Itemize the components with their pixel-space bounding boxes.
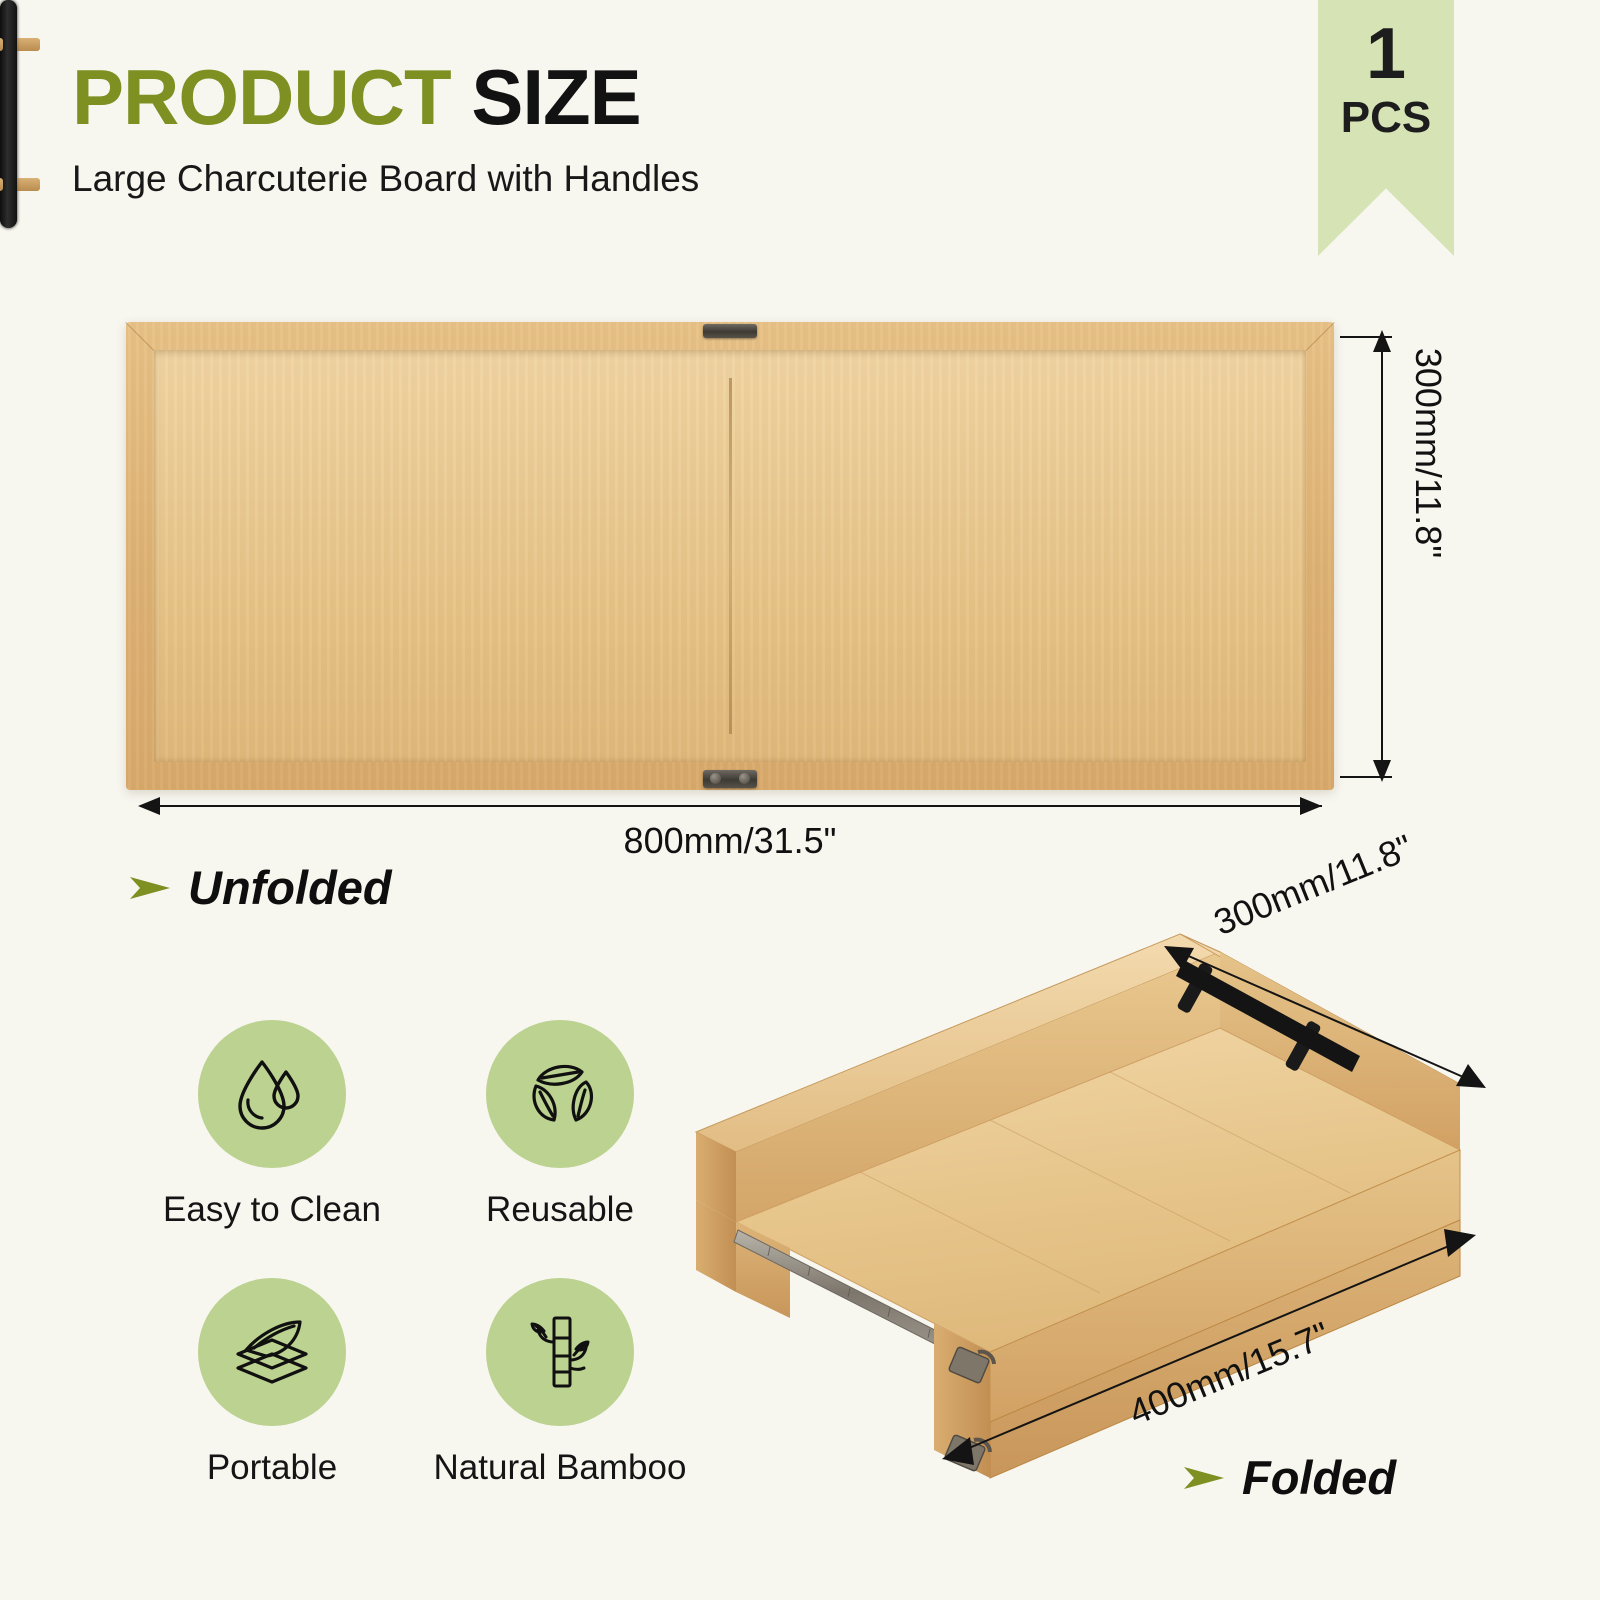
feature-label: Easy to Clean	[163, 1190, 381, 1230]
dimension-line-height	[1381, 336, 1383, 776]
feature-label: Reusable	[486, 1190, 634, 1230]
arrow-up-icon	[1373, 330, 1391, 352]
fold-seam-line	[729, 378, 732, 734]
feature-icon-circle	[486, 1020, 634, 1168]
handle-bar	[0, 0, 17, 228]
arrow-right-icon	[1300, 797, 1322, 815]
unfolded-tray-image	[126, 322, 1334, 790]
layers-leaf-icon	[224, 1304, 320, 1400]
ribbon-unit: PCS	[1341, 94, 1431, 142]
feature-icon-circle	[198, 1020, 346, 1168]
page-title: PRODUCT SIZE	[72, 58, 699, 136]
feature-label: Natural Bamboo	[434, 1448, 687, 1488]
water-drop-icon	[224, 1046, 320, 1142]
handle-post	[0, 178, 3, 191]
arrow-marker-icon	[128, 873, 172, 903]
infographic-canvas: PRODUCT SIZE Large Charcuterie Board wit…	[0, 0, 1600, 1600]
state-label-unfolded: Unfolded	[128, 860, 392, 915]
arrow-down-icon	[1373, 760, 1391, 782]
page-subtitle: Large Charcuterie Board with Handles	[72, 158, 699, 200]
handle-post	[14, 38, 40, 51]
state-label-unfolded-text: Unfolded	[188, 860, 392, 915]
ribbon-quantity: 1	[1366, 18, 1406, 90]
dimension-label-unfolded-height: 300mm/11.8"	[1407, 323, 1449, 583]
feature-item-easy-to-clean: Easy to Clean	[128, 1020, 416, 1278]
state-label-folded-text: Folded	[1242, 1450, 1396, 1505]
feature-item-portable: Portable	[128, 1278, 416, 1536]
tray-corner-miter	[98, 322, 155, 379]
dimension-line-width	[140, 805, 1322, 807]
bamboo-stalk-icon	[512, 1304, 608, 1400]
state-label-folded: Folded	[1182, 1450, 1396, 1505]
feature-grid: Easy to Clean Reusable	[128, 1020, 704, 1536]
handle-post	[0, 38, 3, 51]
tray-inner-surface	[154, 350, 1306, 762]
hinge-top-icon	[703, 324, 757, 338]
dimension-label-unfolded-width: 800mm/31.5"	[0, 820, 1460, 862]
title-part-size: SIZE	[471, 53, 640, 141]
feature-label: Portable	[207, 1448, 337, 1488]
arrow-left-icon	[138, 797, 160, 815]
feature-icon-circle	[486, 1278, 634, 1426]
quantity-ribbon-badge: 1 PCS	[1318, 0, 1454, 256]
hinge-bottom-icon	[703, 770, 757, 788]
recycle-leaves-icon	[512, 1046, 608, 1142]
tray-corner-miter	[1306, 322, 1363, 379]
feature-icon-circle	[198, 1278, 346, 1426]
handle-post	[14, 178, 40, 191]
dimension-line-folded-depth	[1160, 880, 1490, 1100]
arrow-marker-icon	[1182, 1463, 1226, 1493]
dimension-line-folded-width	[940, 1225, 1480, 1475]
title-part-product: PRODUCT	[72, 53, 451, 141]
header-block: PRODUCT SIZE Large Charcuterie Board wit…	[72, 58, 699, 200]
